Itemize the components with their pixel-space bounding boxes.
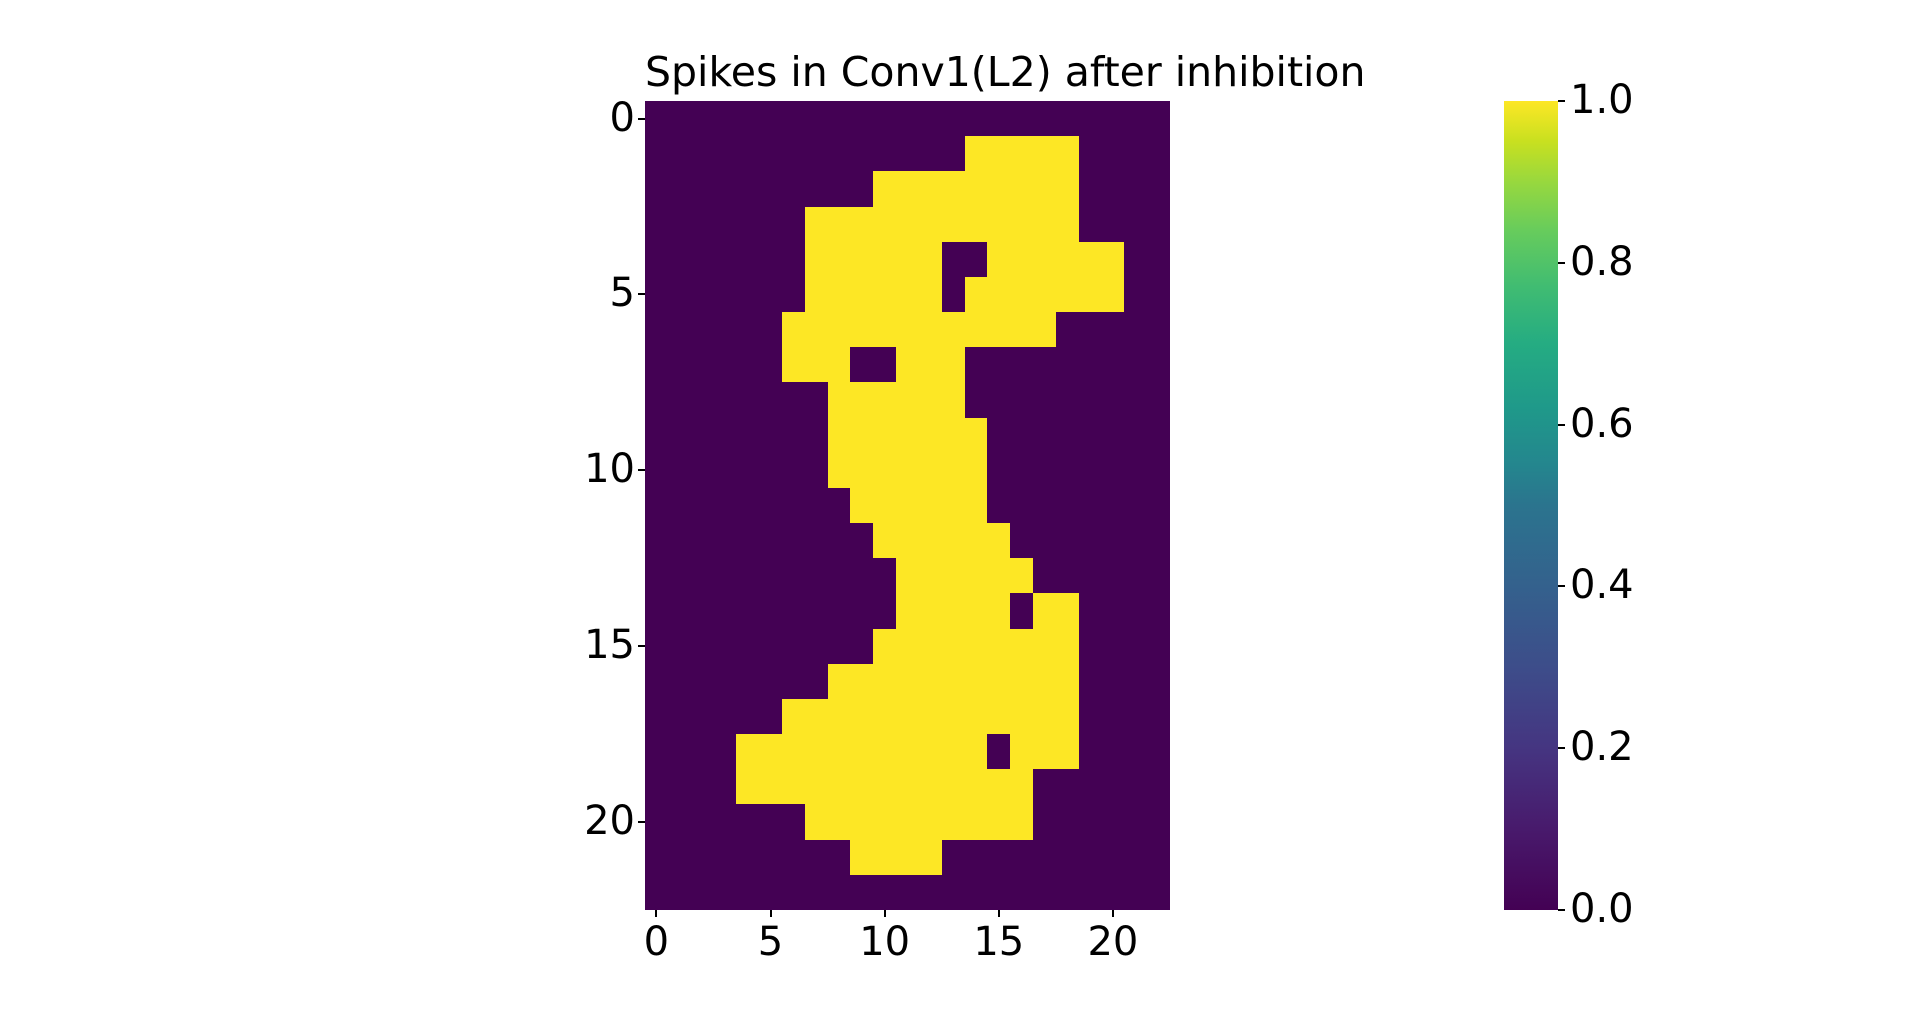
heatmap-cell [1124,382,1147,417]
heatmap-cell [1102,664,1125,699]
heatmap-cell [1010,840,1033,875]
colorbar-gradient [1504,101,1558,910]
heatmap-cell [1124,136,1147,171]
heatmap-cell [736,171,759,206]
heatmap-cell [919,734,942,769]
heatmap-cell [782,488,805,523]
heatmap-cell [919,875,942,910]
heatmap-cell [1010,558,1033,593]
heatmap-cell [1147,242,1170,277]
heatmap-cell [736,734,759,769]
heatmap-cell [1010,171,1033,206]
heatmap-cell [1079,523,1102,558]
heatmap-cell [1010,453,1033,488]
heatmap-cell [1102,804,1125,839]
heatmap-cell [1010,347,1033,382]
heatmap-cell [1056,523,1079,558]
heatmap-cell [668,488,691,523]
heatmap-cell [1079,101,1102,136]
heatmap-cell [1079,699,1102,734]
heatmap-cell [736,277,759,312]
heatmap-cell [759,207,782,242]
heatmap-cell [736,347,759,382]
heatmap-cell [987,453,1010,488]
heatmap-cell [965,207,988,242]
heatmap-cell [1147,418,1170,453]
heatmap-cell [1010,418,1033,453]
x-tick-label: 15 [959,922,1039,962]
colorbar-tick-label: 0.0 [1570,889,1690,929]
heatmap-cell [942,769,965,804]
heatmap-cell [713,840,736,875]
heatmap-cell [1056,769,1079,804]
heatmap-cell [1010,242,1033,277]
heatmap-cell [1124,558,1147,593]
heatmap-cell [736,523,759,558]
heatmap-cell [1147,277,1170,312]
heatmap-cell [873,382,896,417]
heatmap-cell [759,664,782,699]
heatmap-cell [668,453,691,488]
heatmap-cell [1147,312,1170,347]
heatmap-cell [1124,769,1147,804]
matplotlib-figure: Spikes in Conv1(L2) after inhibition 051… [0,0,1920,1022]
heatmap-cell [965,171,988,206]
heatmap-cell [919,312,942,347]
heatmap-cell [1033,875,1056,910]
heatmap-cell [1010,629,1033,664]
heatmap-cell [942,699,965,734]
heatmap-cell [828,136,851,171]
heatmap-cell [1056,418,1079,453]
heatmap-cell [1010,277,1033,312]
heatmap-cell [1033,136,1056,171]
heatmap-cell [1124,664,1147,699]
heatmap-cell [1033,804,1056,839]
heatmap-cell [1079,804,1102,839]
heatmap-cell [782,101,805,136]
heatmap-cell [1124,347,1147,382]
heatmap-cell [850,347,873,382]
heatmap-cell [759,875,782,910]
heatmap-cell [668,347,691,382]
heatmap-cell [645,136,668,171]
heatmap-cell [1010,101,1033,136]
heatmap-cell [668,277,691,312]
heatmap-cell [1079,207,1102,242]
heatmap-cell [828,840,851,875]
heatmap-cell [1147,734,1170,769]
heatmap-cell [965,101,988,136]
heatmap-cell [850,488,873,523]
heatmap-cell [1102,453,1125,488]
heatmap-cell [691,734,714,769]
heatmap-cell [759,734,782,769]
heatmap-cell [919,418,942,453]
heatmap-cell [896,558,919,593]
heatmap-cell [1010,593,1033,628]
heatmap-cell [1033,523,1056,558]
heatmap-cell [645,523,668,558]
heatmap-cell [1033,277,1056,312]
heatmap-cell [668,101,691,136]
heatmap-cell [896,101,919,136]
heatmap-cell [965,453,988,488]
heatmap-cell [1124,207,1147,242]
heatmap-cell [919,523,942,558]
heatmap-cell [1033,840,1056,875]
heatmap-cell [965,875,988,910]
heatmap-cell [987,418,1010,453]
heatmap-cell [713,734,736,769]
heatmap-cell [919,804,942,839]
heatmap-cell [850,312,873,347]
heatmap-cell [713,171,736,206]
heatmap-cell [713,593,736,628]
heatmap-cell [873,277,896,312]
heatmap-cell [919,840,942,875]
heatmap-cell [1079,136,1102,171]
heatmap-cell [713,558,736,593]
heatmap-cell [873,523,896,558]
heatmap-cell [965,699,988,734]
heatmap-cell [1147,558,1170,593]
heatmap-cell [691,207,714,242]
heatmap-cell [668,382,691,417]
heatmap-cell [896,699,919,734]
x-tick-label: 20 [1073,922,1153,962]
heatmap-cell [1056,453,1079,488]
heatmap-cell [965,347,988,382]
heatmap-cell [828,312,851,347]
heatmap-cell [896,629,919,664]
heatmap-cell [1124,488,1147,523]
heatmap-cell [1102,101,1125,136]
heatmap-cell [645,171,668,206]
x-tick-mark [884,910,886,917]
heatmap-cell [1056,136,1079,171]
heatmap-cell [668,136,691,171]
heatmap-cell [691,558,714,593]
heatmap-cell [1056,207,1079,242]
heatmap-cell [919,699,942,734]
heatmap-cell [850,593,873,628]
heatmap-cell [645,101,668,136]
heatmap-cell [850,664,873,699]
heatmap-cell [1102,171,1125,206]
heatmap-cell [691,488,714,523]
heatmap-cell [782,347,805,382]
heatmap-cell [691,171,714,206]
heatmap-cell [1124,523,1147,558]
heatmap-cell [1124,277,1147,312]
heatmap-cell [942,664,965,699]
heatmap-cell [1102,840,1125,875]
heatmap-cell [782,593,805,628]
heatmap-cell [645,207,668,242]
heatmap-cell [1033,312,1056,347]
heatmap-cell [805,101,828,136]
heatmap-cell [850,277,873,312]
heatmap-cell [1033,101,1056,136]
heatmap-cell [873,699,896,734]
heatmap-cell [1147,488,1170,523]
heatmap-cell [691,629,714,664]
heatmap-cell [896,382,919,417]
heatmap-cell [1124,699,1147,734]
heatmap-cell [1147,629,1170,664]
heatmap-cell [942,629,965,664]
heatmap-cell [691,347,714,382]
heatmap-cell [896,242,919,277]
heatmap-cell [965,277,988,312]
heatmap-cell [828,523,851,558]
heatmap-cell [759,242,782,277]
heatmap-cell [1124,242,1147,277]
heatmap-cell [1033,734,1056,769]
heatmap-cell [1102,593,1125,628]
heatmap-cell [873,734,896,769]
heatmap-cell [1079,875,1102,910]
heatmap-cell [1124,804,1147,839]
heatmap-cell [759,136,782,171]
heatmap-cell [828,242,851,277]
heatmap-cell [668,804,691,839]
heatmap-cell [668,312,691,347]
heatmap-cell [736,101,759,136]
heatmap-cell [942,101,965,136]
heatmap-cell [828,558,851,593]
heatmap-cell [965,593,988,628]
heatmap-cell [668,558,691,593]
heatmap-cell [1056,347,1079,382]
heatmap-cell [1010,804,1033,839]
heatmap-cell [691,453,714,488]
heatmap-cell [782,382,805,417]
heatmap-cell [965,382,988,417]
y-tick-mark [638,469,645,471]
heatmap-cell [1147,136,1170,171]
heatmap-cell [645,734,668,769]
heatmap-cell [782,558,805,593]
heatmap-cell [1079,277,1102,312]
heatmap-cell [965,840,988,875]
heatmap-cell [713,382,736,417]
heatmap-cell [691,840,714,875]
heatmap-cell [668,629,691,664]
heatmap-cell [873,453,896,488]
heatmap-cell [942,312,965,347]
heatmap-cell [645,382,668,417]
heatmap-cell [759,523,782,558]
heatmap-cell [942,488,965,523]
heatmap-cell [713,136,736,171]
heatmap-cell [965,312,988,347]
heatmap-cell [1033,382,1056,417]
heatmap-cell [736,453,759,488]
heatmap-cell [873,488,896,523]
heatmap-cell [1147,875,1170,910]
y-tick-label: 15 [525,625,635,665]
heatmap-cell [736,136,759,171]
heatmap-cell [1079,558,1102,593]
colorbar-tick-label: 0.2 [1570,727,1690,767]
heatmap-cell [850,699,873,734]
heatmap-cell [1033,629,1056,664]
heatmap-cell [736,382,759,417]
heatmap-cell [850,242,873,277]
heatmap-cell [873,840,896,875]
heatmap-cell [987,840,1010,875]
colorbar-tick-mark [1558,424,1565,426]
heatmap-cell [805,558,828,593]
heatmap-axes [645,101,1170,910]
heatmap-cell [759,804,782,839]
heatmap-cell [805,277,828,312]
heatmap-cell [1102,418,1125,453]
heatmap-cell [828,629,851,664]
heatmap-cell [873,664,896,699]
x-tick-label: 5 [731,922,811,962]
heatmap-cell [1079,312,1102,347]
heatmap-cell [1079,593,1102,628]
heatmap-cell [1033,699,1056,734]
colorbar-tick-mark [1558,262,1565,264]
heatmap-cell [965,769,988,804]
heatmap-cell [850,769,873,804]
heatmap-cell [1056,664,1079,699]
heatmap-cell [987,664,1010,699]
heatmap-cell [736,664,759,699]
heatmap-cell [668,593,691,628]
heatmap-cell [1102,136,1125,171]
heatmap-cell [1147,347,1170,382]
heatmap-cell [850,136,873,171]
y-tick-label: 10 [525,449,635,489]
heatmap-cell [987,699,1010,734]
heatmap-cell [896,523,919,558]
heatmap-cell [805,207,828,242]
heatmap-cell [759,769,782,804]
heatmap-cell [896,875,919,910]
heatmap-cell [782,453,805,488]
heatmap-cell [736,488,759,523]
heatmap-cell [782,875,805,910]
heatmap-cell [1033,769,1056,804]
heatmap-cell [1010,523,1033,558]
heatmap-cell [873,418,896,453]
heatmap-cell [1056,875,1079,910]
heatmap-cell [850,101,873,136]
heatmap-cell [987,101,1010,136]
heatmap-cell [1079,171,1102,206]
heatmap-cell [1124,629,1147,664]
heatmap-cell [850,418,873,453]
heatmap-cell [759,558,782,593]
heatmap-cell [645,629,668,664]
heatmap-cell [942,593,965,628]
heatmap-cell [691,418,714,453]
heatmap-cell [1147,769,1170,804]
heatmap-cell [896,136,919,171]
heatmap-cell [942,207,965,242]
heatmap-cell [782,769,805,804]
heatmap-cell [896,769,919,804]
heatmap-cell [1056,488,1079,523]
heatmap-cell [1010,734,1033,769]
heatmap-cell [1102,312,1125,347]
heatmap-cell [1033,664,1056,699]
heatmap-cell [691,523,714,558]
heatmap-cell [645,312,668,347]
heatmap-cell [1124,593,1147,628]
heatmap-cell [919,453,942,488]
heatmap-cell [805,769,828,804]
heatmap-cell [645,840,668,875]
heatmap-cell [873,629,896,664]
heatmap-cell [873,207,896,242]
heatmap-cell [782,629,805,664]
heatmap-cell [942,523,965,558]
heatmap-cell [1147,101,1170,136]
heatmap-cell [896,207,919,242]
heatmap-cell [919,242,942,277]
x-tick-label: 10 [845,922,925,962]
colorbar-tick-label: 0.6 [1570,404,1690,444]
heatmap-cell [1079,840,1102,875]
heatmap-cell [691,699,714,734]
y-tick-label: 5 [525,273,635,313]
heatmap-cell [1102,277,1125,312]
heatmap-cell [1079,769,1102,804]
heatmap-cell [987,207,1010,242]
colorbar-tick-mark [1558,585,1565,587]
heatmap-cell [850,629,873,664]
heatmap-cell [850,840,873,875]
heatmap-cell [873,875,896,910]
heatmap-cell [919,277,942,312]
heatmap-cell [736,312,759,347]
heatmap-cell [965,664,988,699]
heatmap-cell [736,207,759,242]
heatmap-cell [782,207,805,242]
heatmap-cell [850,804,873,839]
heatmap-cell [1147,664,1170,699]
colorbar-tick-mark [1558,747,1565,749]
heatmap-cell [850,875,873,910]
heatmap-cell [805,488,828,523]
y-tick-mark [638,293,645,295]
heatmap-cell [645,804,668,839]
heatmap-cell [896,171,919,206]
heatmap-cell [805,699,828,734]
heatmap-cell [1010,699,1033,734]
heatmap-cell [1102,629,1125,664]
heatmap-cell [645,769,668,804]
heatmap-cell [713,488,736,523]
heatmap-cell [987,312,1010,347]
heatmap-cell [1056,171,1079,206]
heatmap-cell [736,804,759,839]
heatmap-cell [713,804,736,839]
heatmap-cell [942,277,965,312]
y-tick-mark [638,645,645,647]
heatmap-cell [828,593,851,628]
heatmap-cell [1102,488,1125,523]
heatmap-cell [828,418,851,453]
heatmap-cell [828,664,851,699]
heatmap-cell [828,699,851,734]
